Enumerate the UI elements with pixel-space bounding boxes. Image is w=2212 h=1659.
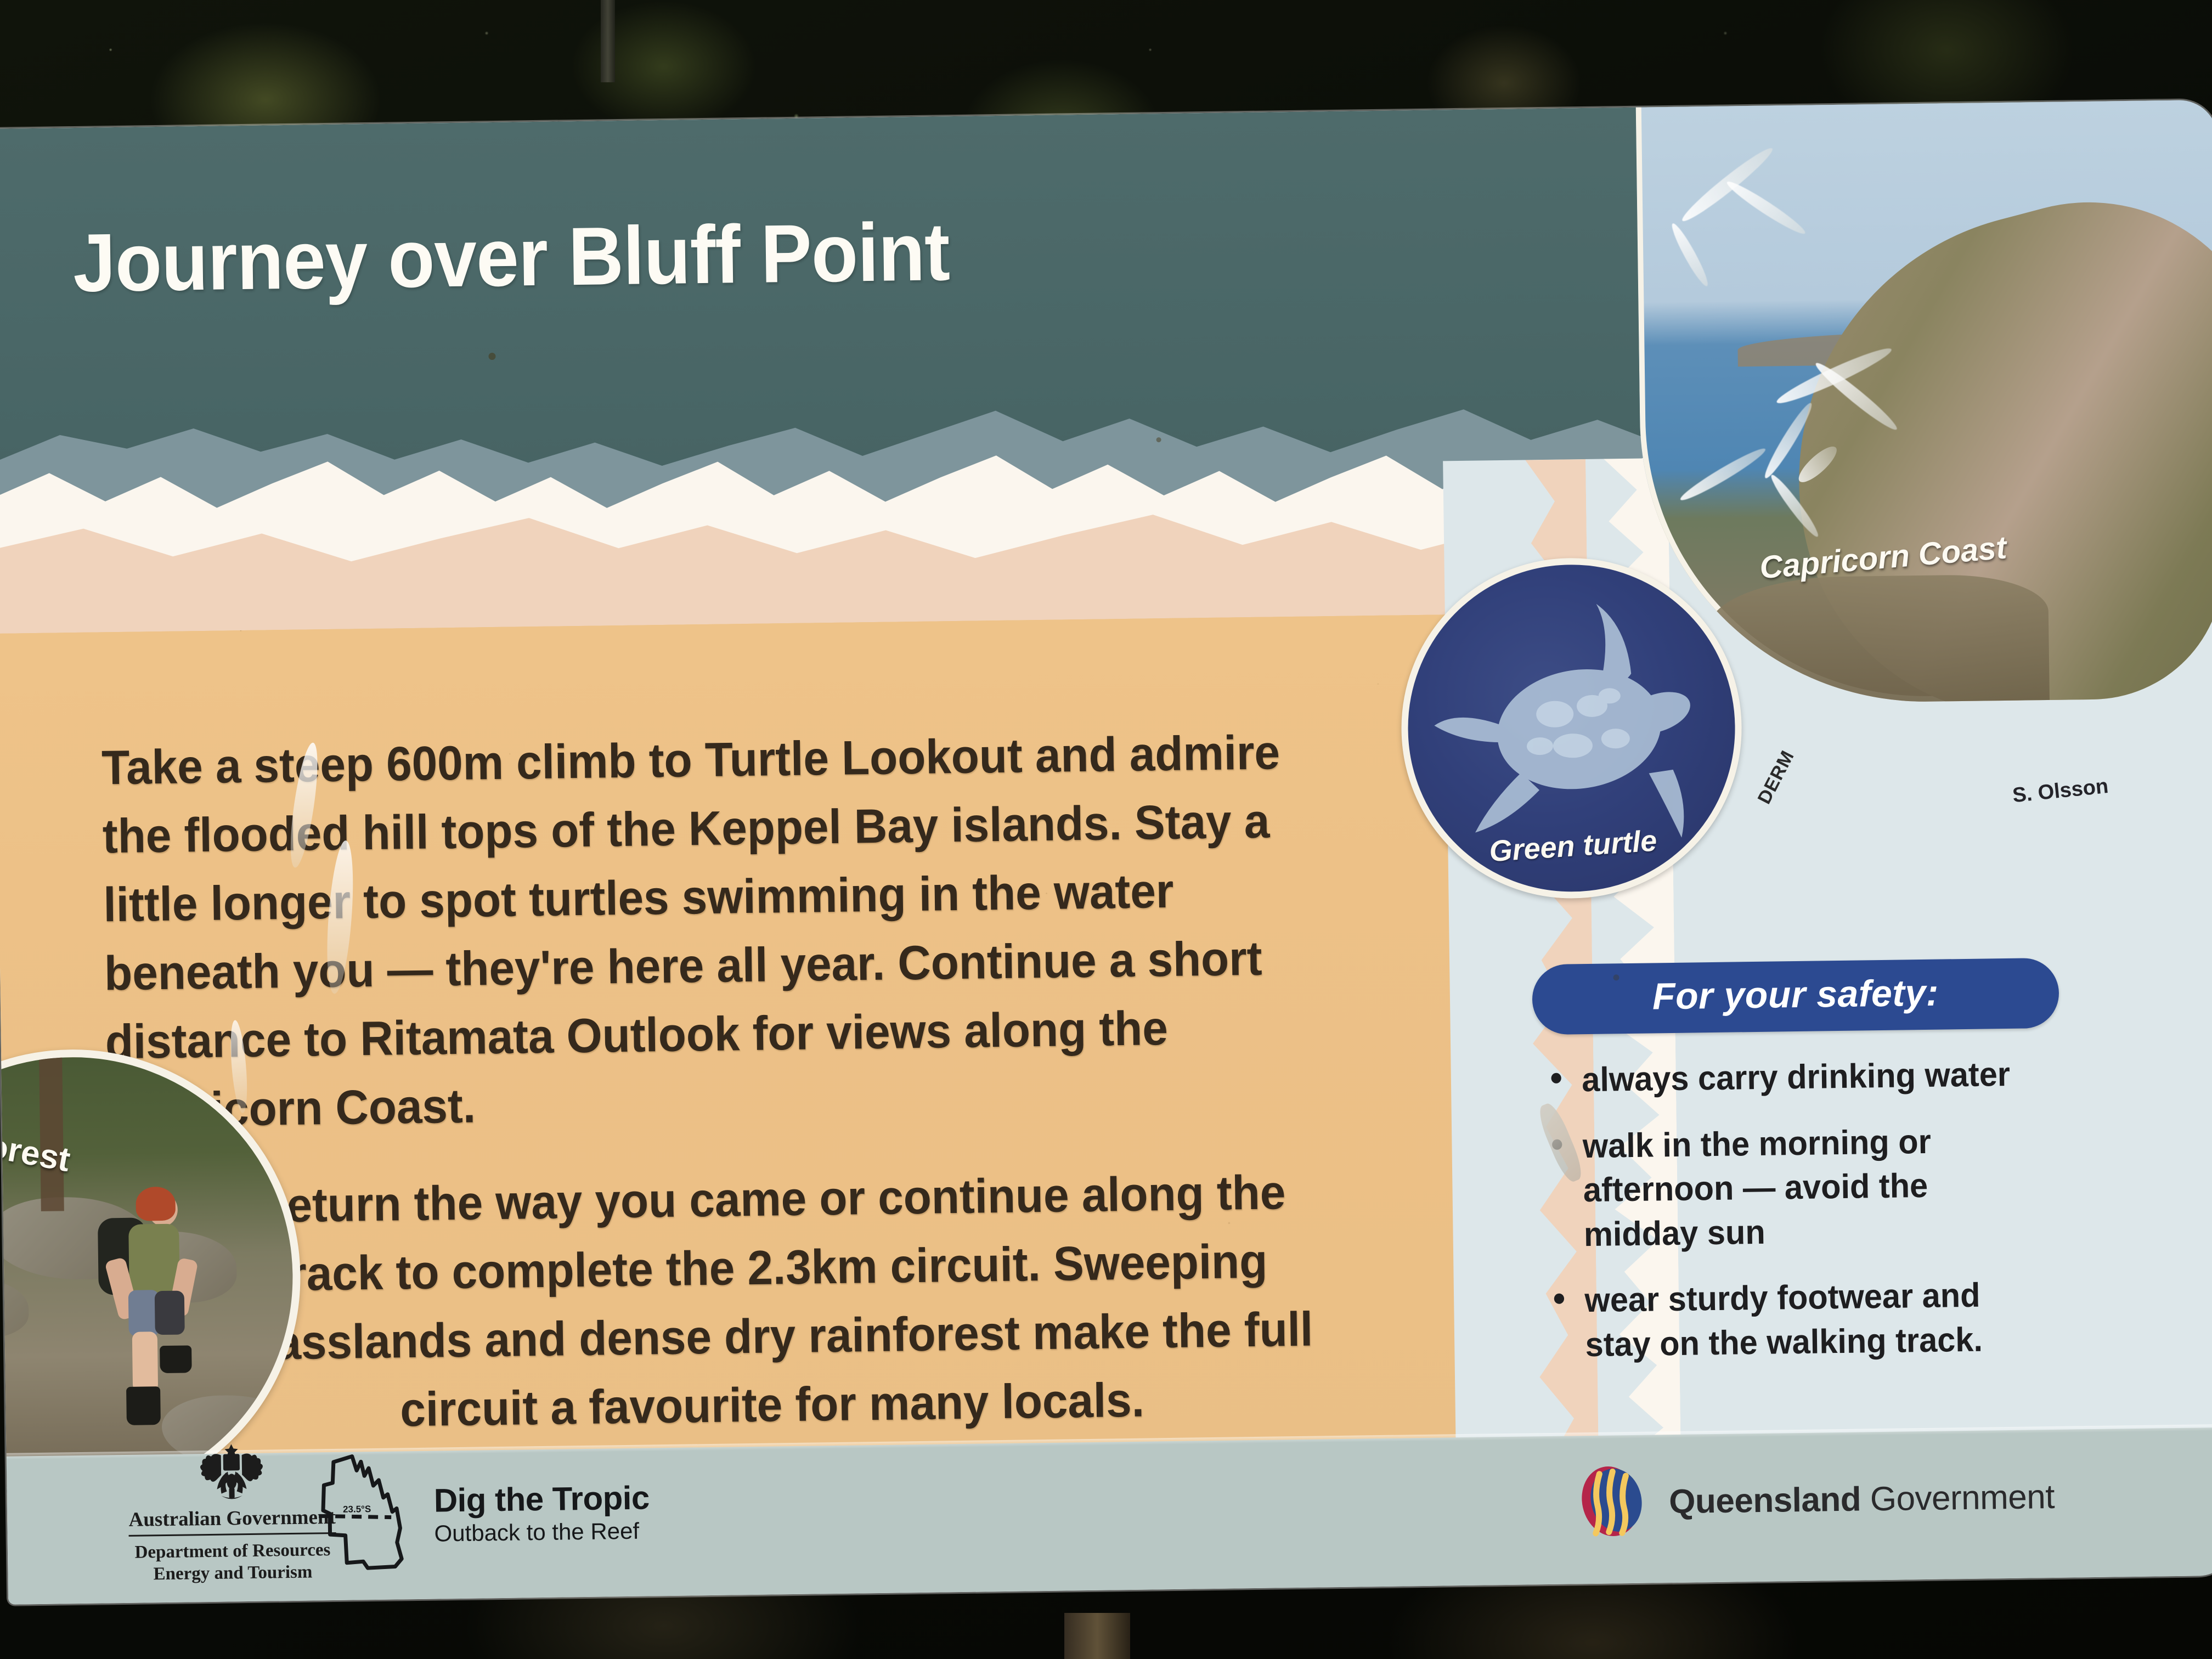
tropic-latitude-label: 23.5°S (343, 1504, 371, 1515)
safety-item: walk in the morning or afternoon — avoid… (1534, 1119, 2041, 1258)
hiker-torso (128, 1224, 180, 1294)
body-paragraph-1: Take a steep 600m climb to Turtle Lookou… (101, 718, 1305, 1145)
dig-the-tropic-line2: Outback to the Reef (434, 1517, 650, 1547)
queensland-government-text: Queensland Government (1669, 1477, 2055, 1521)
paint-scratch (1668, 221, 1712, 289)
sign-post-top (601, 0, 615, 82)
queensland-government-emblem-icon (1578, 1464, 1651, 1542)
queensland-government-logo: Queensland Government (1578, 1458, 2055, 1541)
page-title: Journey over Bluff Point (72, 204, 950, 311)
tree-trunk (39, 1057, 64, 1211)
safety-item: always carry drinking water (1533, 1052, 2039, 1103)
hiker-boot (126, 1386, 161, 1425)
hiker-leg (155, 1291, 185, 1335)
hiker-hair (136, 1187, 176, 1221)
dig-the-tropic-logo: 23.5°S Dig the Tropic Outback to the Ree… (314, 1448, 651, 1578)
ausgov-line1: Australian Government (128, 1505, 336, 1536)
safety-list: always carry drinking water walk in the … (1533, 1052, 2063, 1368)
safety-box: For your safety: always carry drinking w… (1532, 958, 2064, 1390)
dig-the-tropic-text: Dig the Tropic Outback to the Reef (433, 1479, 650, 1547)
safety-item: wear sturdy footwear and stay on the wal… (1536, 1273, 2043, 1368)
body-paragraph-2: Return the way you came or continue alon… (138, 1158, 1340, 1447)
sign-post-bottom (1064, 1613, 1130, 1659)
qld-bold-word: Queensland (1669, 1480, 1861, 1521)
paint-scratch (1678, 444, 1769, 505)
paint-scratch (1724, 177, 1808, 239)
safety-heading: For your safety: (1532, 958, 2059, 1035)
qld-regular-word: Government (1861, 1477, 2055, 1518)
hiker-figure (71, 1181, 211, 1440)
green-turtle-photo: Green turtle (1400, 556, 1744, 900)
hiker-leg (132, 1331, 158, 1392)
hiker-boot (160, 1345, 192, 1373)
dig-the-tropic-line1: Dig the Tropic (433, 1479, 650, 1519)
interpretive-sign-panel: Capricorn Coast S. Olsson Green turtle (0, 100, 2212, 1605)
shoreline-rocks (1708, 574, 2050, 704)
commonwealth-coat-of-arms-icon (190, 1442, 273, 1503)
queensland-map-outline-icon: 23.5°S (314, 1451, 420, 1578)
